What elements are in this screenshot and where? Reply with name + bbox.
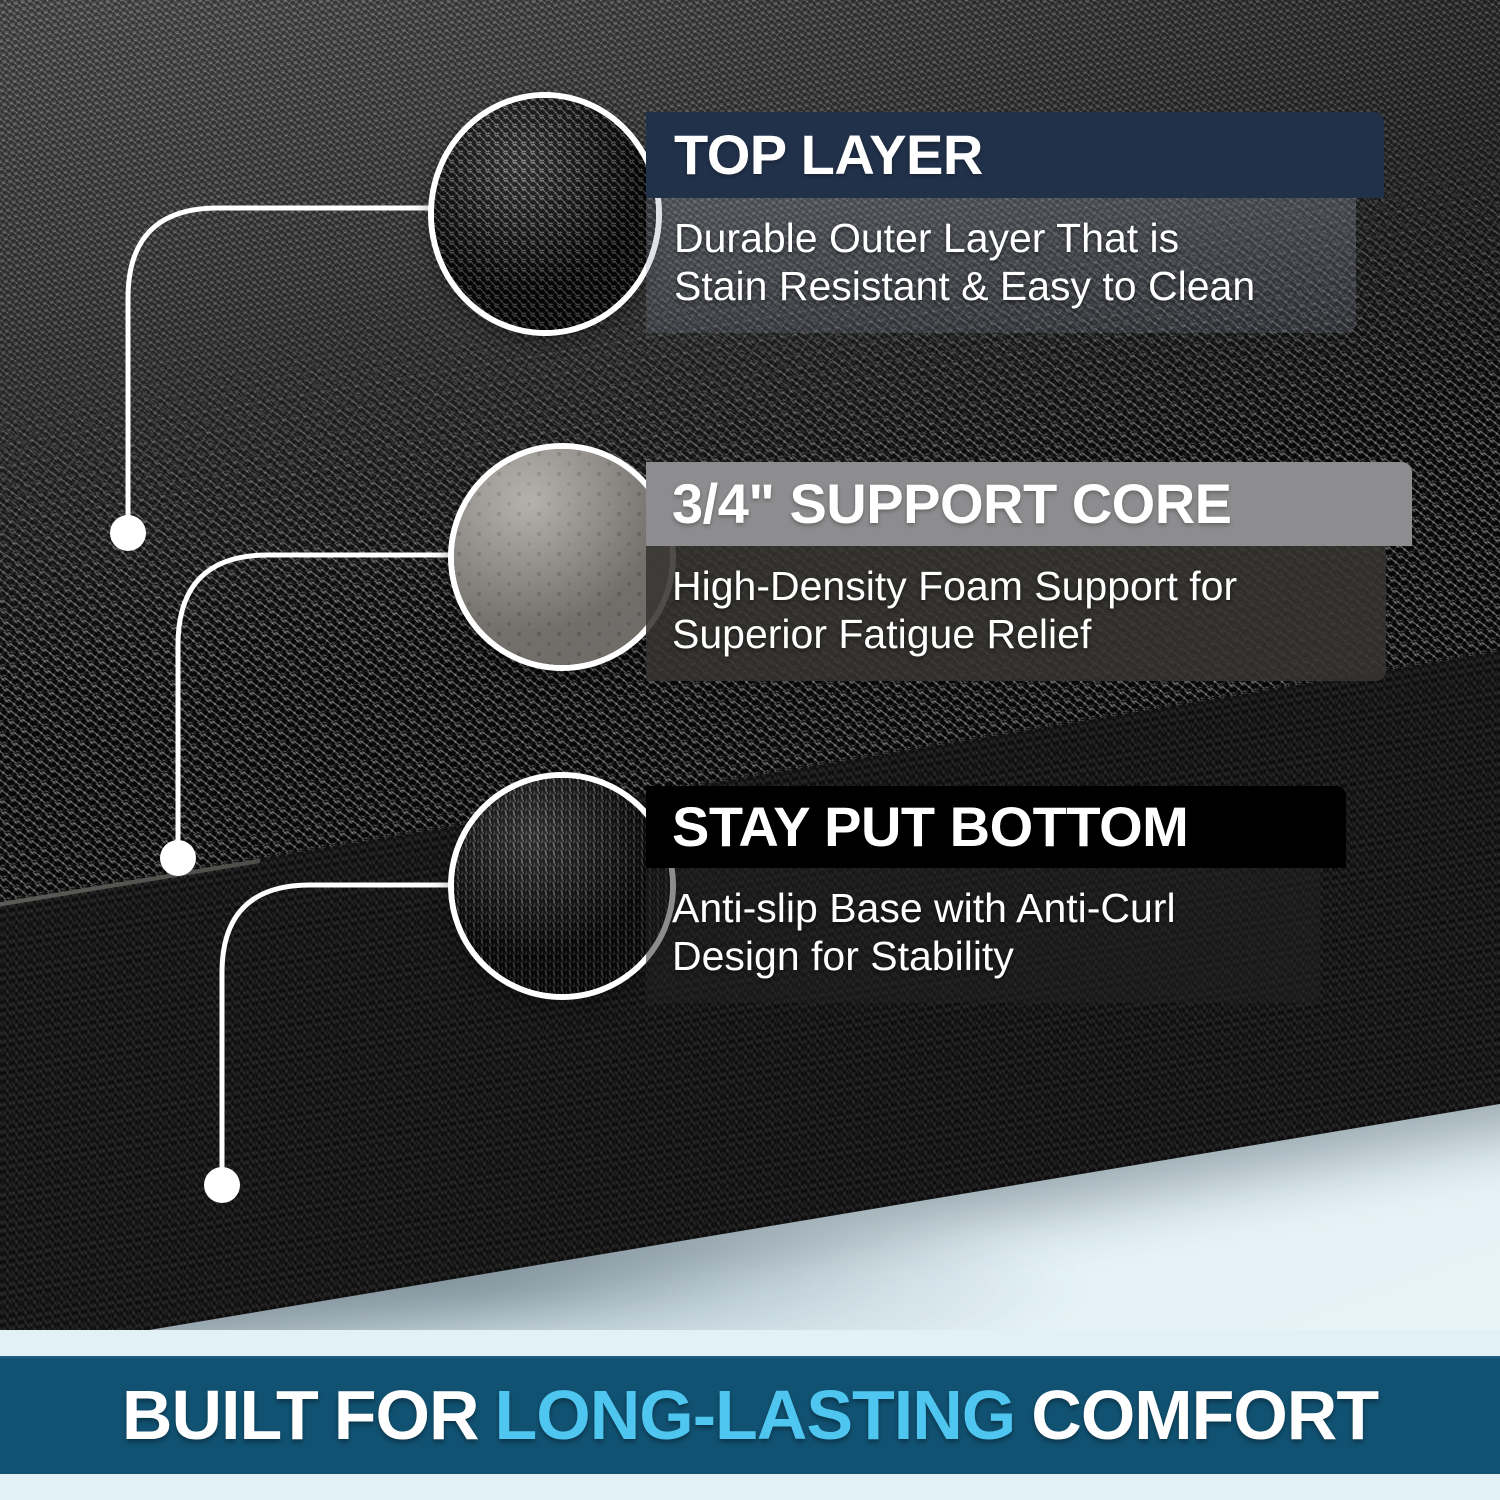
callout-top-layer-description: Durable Outer Layer That is Stain Resist… (646, 198, 1356, 333)
product-photo: TOP LAYER Durable Outer Layer That is St… (0, 0, 1500, 1330)
bottom-banner-text: BUILTFORLONG-LASTINGCOMFORT (122, 1375, 1378, 1455)
callout-support-core-description-line1: High-Density Foam Support for (672, 562, 1360, 610)
callout-top-layer: TOP LAYER Durable Outer Layer That is St… (646, 112, 1384, 333)
callout-stay-put-bottom: STAY PUT BOTTOM Anti-slip Base with Anti… (646, 786, 1346, 1003)
bottom-banner: BUILTFORLONG-LASTINGCOMFORT (0, 1330, 1500, 1500)
banner-word-for: FOR (334, 1376, 479, 1454)
callout-support-core: 3/4" SUPPORT CORE High-Density Foam Supp… (646, 462, 1412, 681)
callout-top-layer-title: TOP LAYER (646, 112, 1384, 198)
callout-stay-put-bottom-description-line2: Design for Stability (672, 932, 1294, 980)
callout-stay-put-bottom-description-line1: Anti-slip Base with Anti-Curl (672, 884, 1294, 932)
banner-word-long-lasting: LONG-LASTING (495, 1376, 1016, 1454)
diagonal-weave-texture-swatch-icon (434, 98, 656, 330)
swatch-top-layer (428, 92, 662, 336)
bottom-banner-bar: BUILTFORLONG-LASTINGCOMFORT (0, 1356, 1500, 1474)
callout-top-layer-description-line2: Stain Resistant & Easy to Clean (674, 262, 1330, 310)
swatch-stay-put-bottom (448, 772, 676, 1000)
callout-stay-put-bottom-description: Anti-slip Base with Anti-Curl Design for… (646, 868, 1320, 1003)
callout-support-core-title: 3/4" SUPPORT CORE (646, 462, 1412, 546)
callout-support-core-description-line2: Superior Fatigue Relief (672, 610, 1360, 658)
banner-word-built: BUILT (122, 1376, 318, 1454)
callout-support-core-description: High-Density Foam Support for Superior F… (646, 546, 1386, 681)
herringbone-weave-texture-swatch-icon (454, 778, 670, 994)
callout-top-layer-description-line1: Durable Outer Layer That is (674, 214, 1330, 262)
infographic-canvas: TOP LAYER Durable Outer Layer That is St… (0, 0, 1500, 1500)
banner-word-comfort: COMFORT (1031, 1376, 1378, 1454)
swatch-support-core (448, 443, 676, 671)
callout-stay-put-bottom-title: STAY PUT BOTTOM (646, 786, 1346, 868)
gray-foam-texture-swatch-icon (454, 449, 670, 665)
